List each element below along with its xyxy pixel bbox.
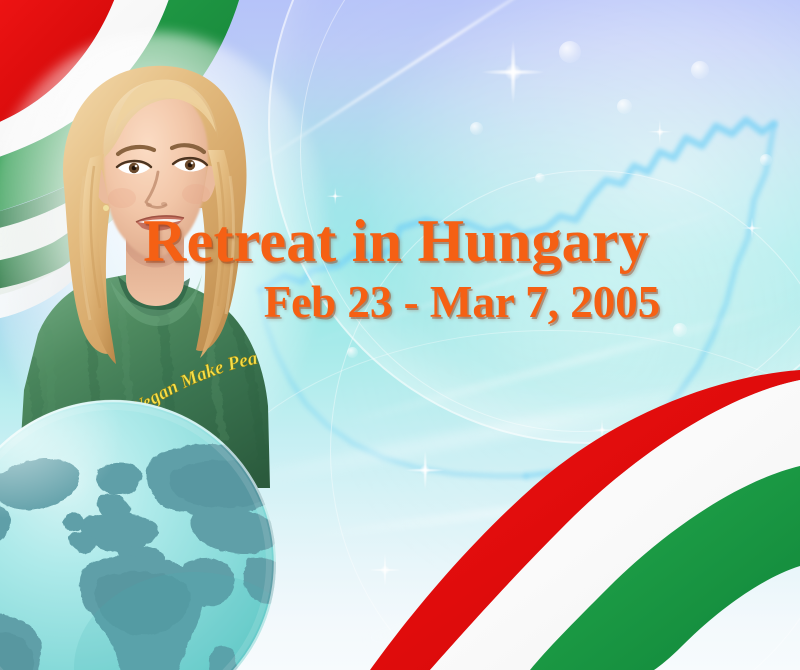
hungary-flag-sweep-bottom-right	[370, 370, 800, 670]
event-date-subtitle: Feb 23 - Mar 7, 2005	[0, 278, 792, 328]
earth-globe	[0, 398, 278, 670]
title-block: Retreat in Hungary Feb 23 - Mar 7, 2005	[0, 210, 800, 328]
page-title: Retreat in Hungary	[0, 210, 792, 272]
poster-canvas: Be Vegan Make Peace	[0, 0, 800, 670]
